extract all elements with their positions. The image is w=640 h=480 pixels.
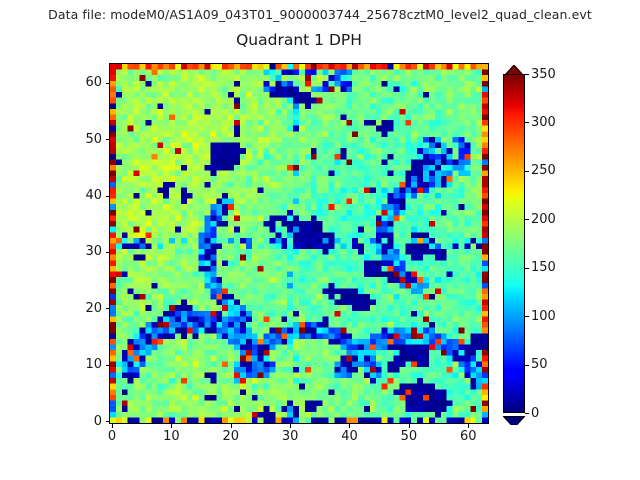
colorbar-canvas (504, 75, 524, 412)
y-tick-label-60: 60 (58, 74, 102, 91)
colorbar-gradient (503, 74, 525, 413)
colorbar-under-arrow (503, 413, 525, 425)
x-tick-label-0: 0 (92, 429, 132, 444)
heatmap-image (110, 64, 488, 423)
colorbar-tick-mark (525, 365, 529, 366)
y-tick-mark (106, 196, 110, 197)
x-tick-mark (468, 424, 469, 428)
colorbar-tick-label-350: 350 (531, 66, 577, 83)
colorbar-tick-label-200: 200 (531, 211, 577, 228)
x-tick-label-40: 40 (329, 429, 369, 444)
x-tick-mark (171, 424, 172, 428)
y-tick-mark (106, 252, 110, 253)
colorbar-tick-mark (525, 122, 529, 123)
colorbar-tick-mark (525, 413, 529, 414)
y-tick-mark (106, 421, 110, 422)
y-tick-mark (106, 139, 110, 140)
colorbar-tick-label-50: 50 (531, 356, 577, 373)
y-tick-label-0: 0 (58, 413, 102, 430)
x-tick-label-60: 60 (448, 429, 488, 444)
colorbar-tick-mark (525, 74, 529, 75)
x-tick-label-50: 50 (389, 429, 429, 444)
colorbar-tick-mark (525, 268, 529, 269)
x-tick-label-30: 30 (270, 429, 310, 444)
y-tick-label-10: 10 (58, 356, 102, 373)
y-tick-label-20: 20 (58, 300, 102, 317)
plot-title: Quadrant 1 DPH (0, 31, 598, 49)
y-tick-mark (106, 308, 110, 309)
heatmap-axes[interactable] (109, 63, 489, 424)
colorbar-tick-label-150: 150 (531, 259, 577, 276)
colorbar-tick-label-0: 0 (531, 405, 577, 422)
y-tick-label-50: 50 (58, 131, 102, 148)
x-tick-mark (349, 424, 350, 428)
data-file-label: Data file: modeM0/AS1A09_043T01_90000037… (0, 7, 640, 22)
colorbar-tick-mark (525, 171, 529, 172)
colorbar-tick-label-250: 250 (531, 162, 577, 179)
x-tick-label-20: 20 (211, 429, 251, 444)
colorbar-tick-label-100: 100 (531, 308, 577, 325)
y-tick-label-30: 30 (58, 243, 102, 260)
y-tick-mark (106, 83, 110, 84)
x-tick-mark (290, 424, 291, 428)
x-tick-mark (409, 424, 410, 428)
colorbar-over-arrow (503, 62, 525, 74)
x-tick-mark (112, 424, 113, 428)
colorbar[interactable] (503, 62, 525, 425)
x-tick-mark (231, 424, 232, 428)
colorbar-tick-label-300: 300 (531, 114, 577, 131)
figure-canvas: Data file: modeM0/AS1A09_043T01_90000037… (0, 0, 640, 480)
x-tick-label-10: 10 (151, 429, 191, 444)
colorbar-tick-mark (525, 219, 529, 220)
y-tick-label-40: 40 (58, 187, 102, 204)
colorbar-tick-mark (525, 316, 529, 317)
y-tick-mark (106, 365, 110, 366)
